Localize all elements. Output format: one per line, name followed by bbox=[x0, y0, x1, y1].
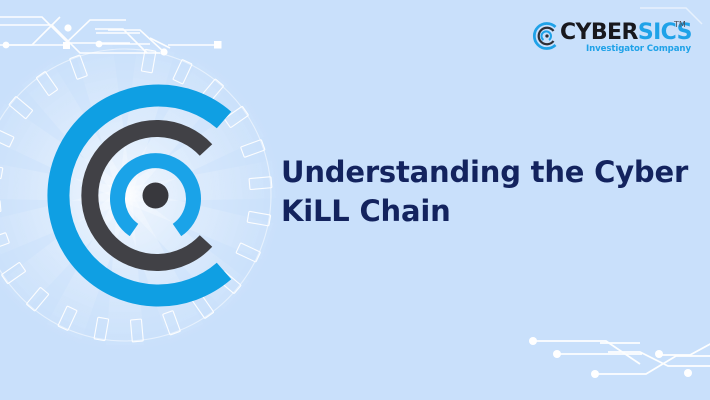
circuit-node bbox=[3, 42, 10, 49]
circuit-node bbox=[655, 350, 663, 358]
circuit-node bbox=[214, 41, 222, 49]
circuit-node bbox=[64, 24, 71, 31]
target-c-icon bbox=[532, 21, 562, 51]
circuit-node bbox=[160, 48, 167, 55]
trademark-symbol: TM bbox=[674, 20, 686, 29]
page-title-line-1: Understanding the Cyber bbox=[281, 153, 691, 192]
brand-logo[interactable]: CYBERSICS TM Investigator Company bbox=[532, 19, 688, 61]
page-title-line-2: KiLL Chain bbox=[281, 192, 691, 231]
brand-wordmark: CYBERSICS bbox=[560, 20, 692, 45]
circuit-node bbox=[96, 41, 103, 48]
circuit-node bbox=[529, 337, 537, 345]
brand-name-part1: CYBER bbox=[560, 20, 638, 45]
slide-canvas: Understanding the Cyber KiLL Chain CYBER… bbox=[0, 0, 710, 400]
circuit-node bbox=[591, 370, 599, 378]
circuit-node bbox=[684, 369, 692, 377]
slide-title-block: Understanding the Cyber KiLL Chain bbox=[281, 153, 691, 231]
cybersics-target-c-emblem bbox=[38, 78, 273, 313]
brand-tagline: Investigator Company bbox=[586, 44, 691, 54]
emblem-center-dot bbox=[143, 183, 169, 209]
circuit-node bbox=[63, 42, 70, 49]
circuit-node bbox=[553, 350, 561, 358]
